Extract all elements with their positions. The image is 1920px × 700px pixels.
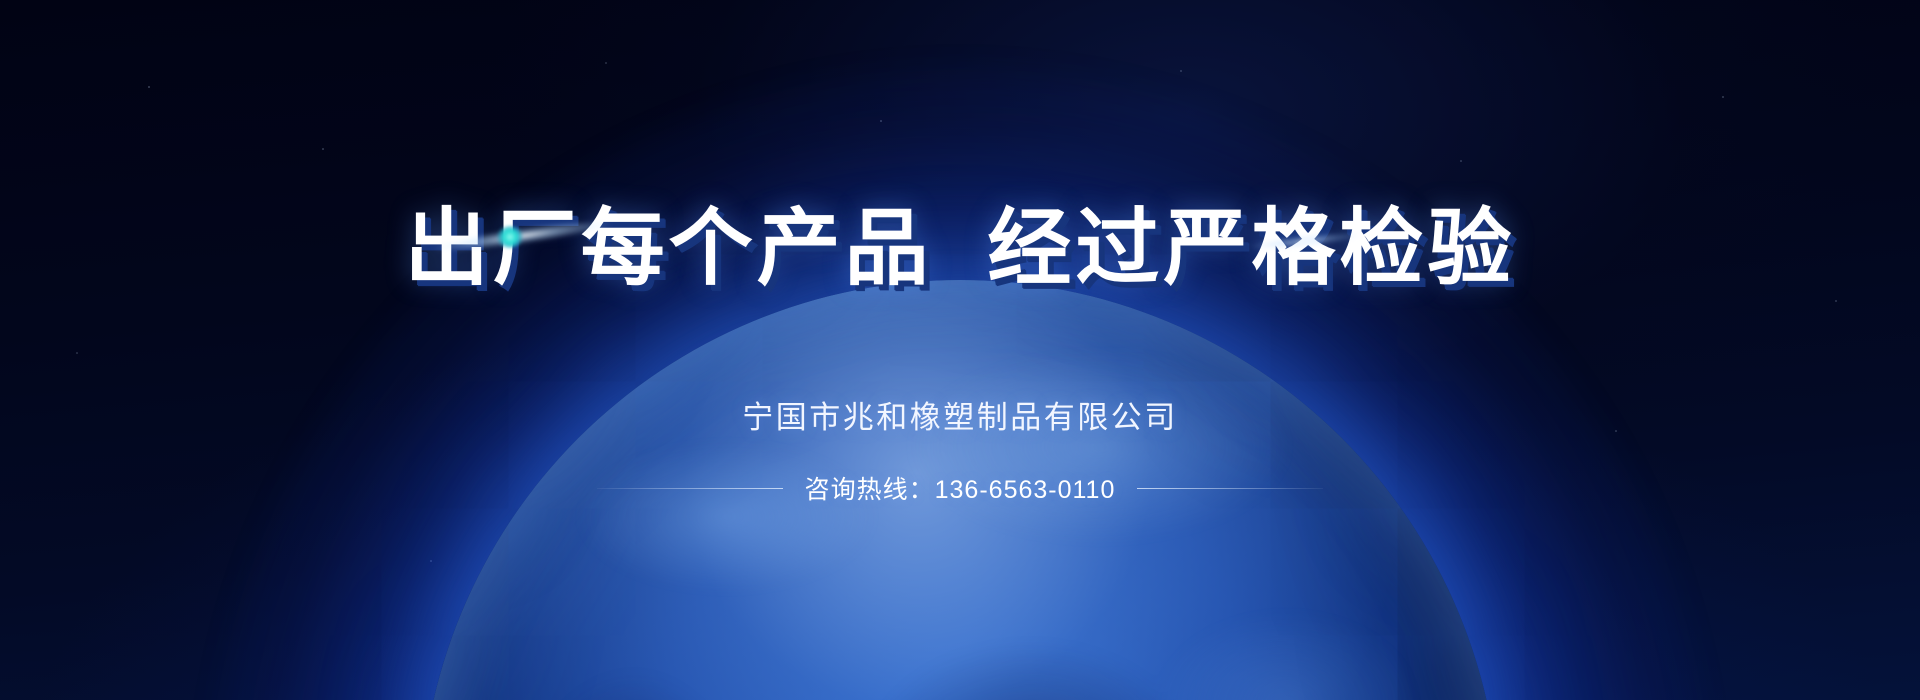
banner-headline: 出厂每个产品 经过严格检验 [0,206,1920,290]
hotline-text: 咨询热线：136-6563-0110 [805,470,1116,506]
globe-atmosphere-glow [210,70,1710,700]
company-name: 宁国市兆和橡塑制品有限公司 [0,392,1920,437]
starfield [0,0,1920,700]
promo-banner: 出厂每个产品 经过严格检验 宁国市兆和橡塑制品有限公司 咨询热线：136-656… [0,0,1920,700]
divider-left [597,488,783,489]
hotline-row: 咨询热线：136-6563-0110 [0,470,1920,506]
divider-right [1137,488,1323,489]
